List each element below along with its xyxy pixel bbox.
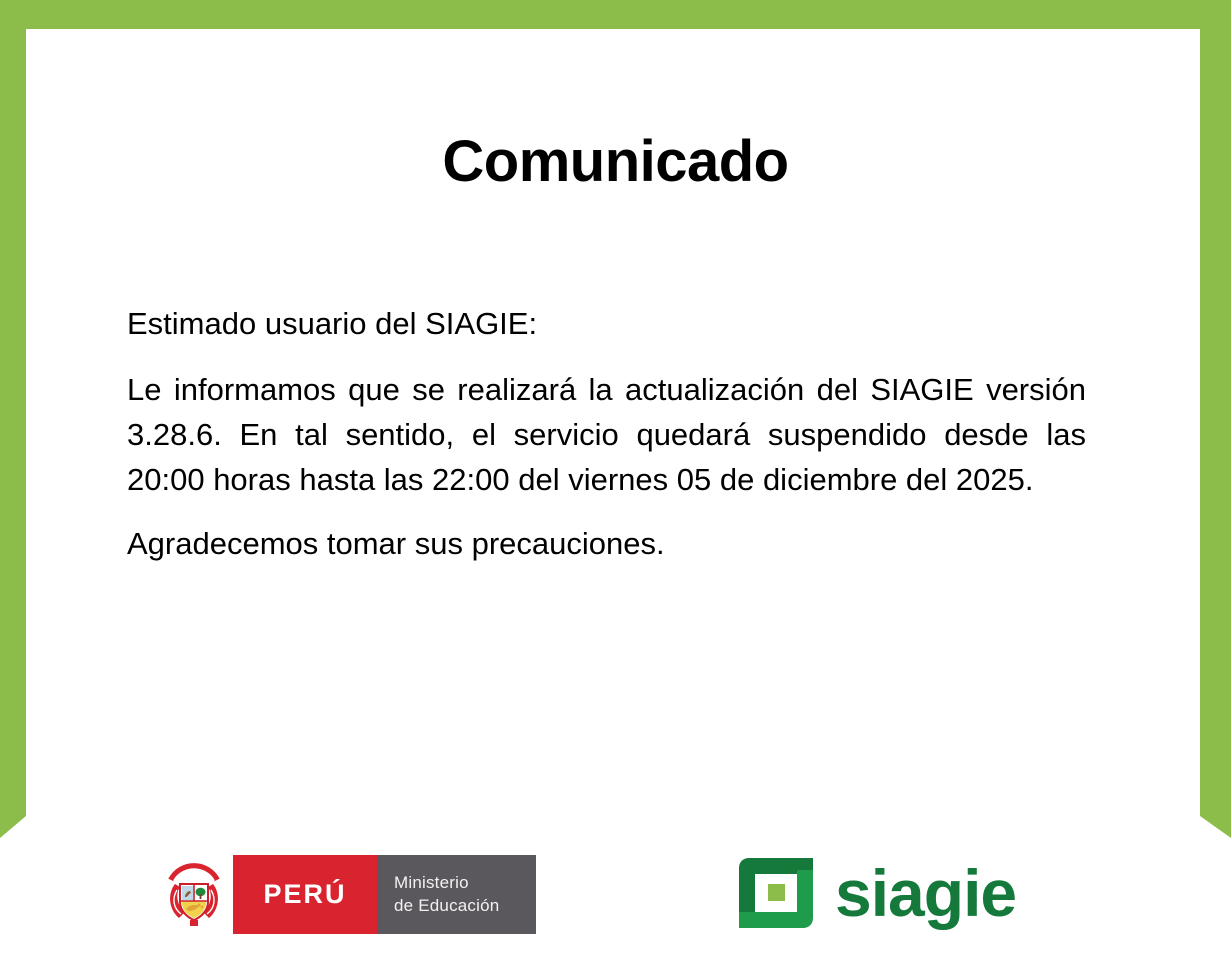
- peru-label: PERÚ: [263, 879, 346, 910]
- notice-body: Estimado usuario del SIAGIE: Le informam…: [127, 306, 1086, 563]
- ministry-name-block: Ministerio de Educación: [377, 855, 536, 934]
- peru-label-block: PERÚ: [233, 855, 377, 934]
- ministry-line-1: Ministerio: [394, 872, 536, 894]
- notice-paragraph: Le informamos que se realizará la actual…: [127, 367, 1086, 503]
- ministry-line-2: de Educación: [394, 895, 536, 917]
- greeting-text: Estimado usuario del SIAGIE:: [127, 306, 1086, 343]
- page-title: Comunicado: [0, 133, 1231, 191]
- siagie-wordmark: siagie: [835, 860, 1016, 926]
- minedu-logo: PERÚ Ministerio de Educación: [155, 855, 536, 934]
- siagie-bracket-mark-icon: [733, 854, 819, 932]
- comunicado-page: Comunicado Estimado usuario del SIAGIE: …: [0, 0, 1231, 978]
- peru-coat-of-arms-icon: [155, 855, 233, 934]
- closing-text: Agradecemos tomar sus precauciones.: [127, 526, 1086, 563]
- notice-content: Comunicado Estimado usuario del SIAGIE: …: [0, 0, 1231, 978]
- siagie-logo: siagie: [733, 852, 1028, 934]
